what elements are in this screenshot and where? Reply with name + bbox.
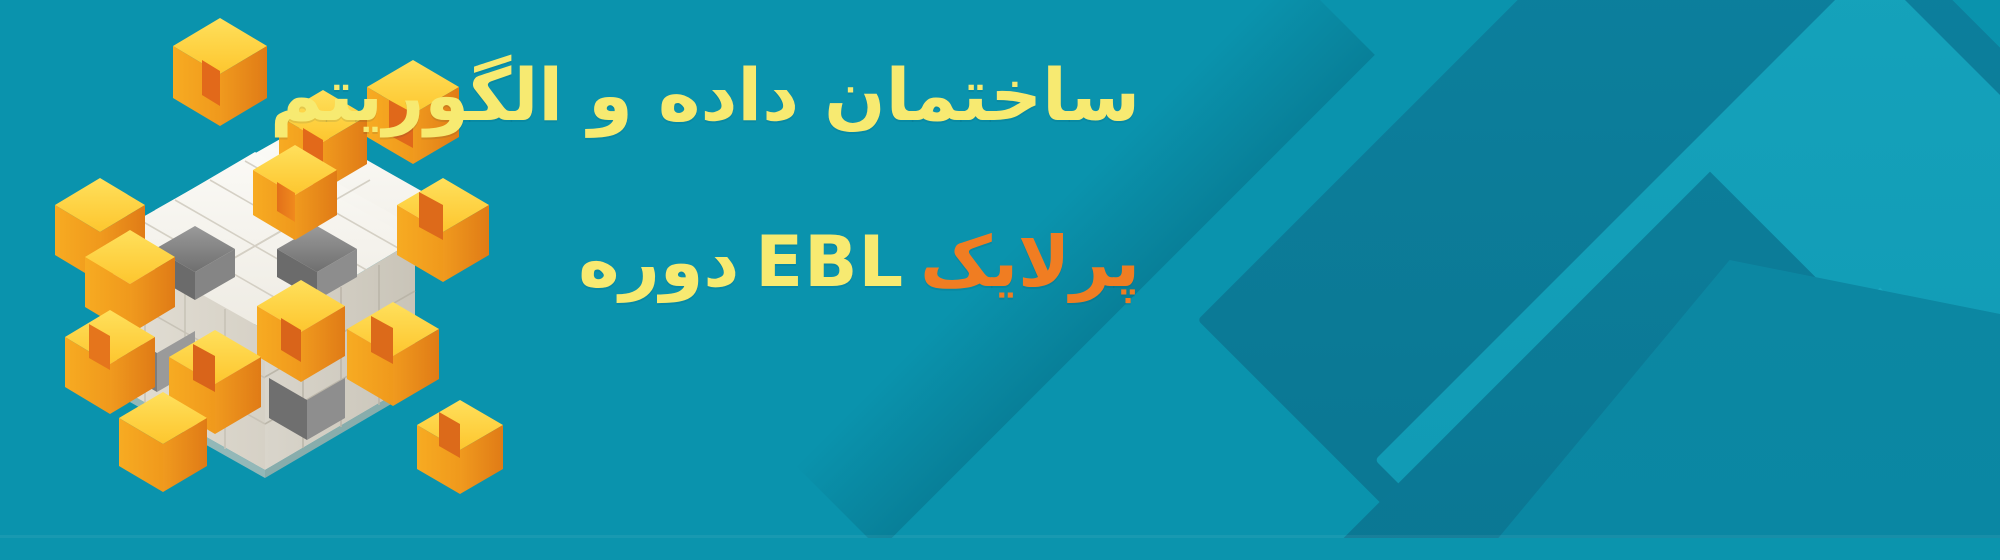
course-word: دوره (578, 221, 739, 303)
banner-text-block: ساختمان داده و الگوریتم پرلایکEBLدوره (420, 58, 1140, 299)
course-code: EBL (755, 221, 904, 303)
brand-name: پرلایک (920, 221, 1140, 303)
subtitle: پرلایکEBLدوره (420, 226, 1140, 300)
bottom-strip (0, 538, 2000, 560)
page-title: ساختمان داده و الگوریتم (420, 58, 1140, 134)
course-banner: ساختمان داده و الگوریتم پرلایکEBLدوره (0, 0, 2000, 560)
